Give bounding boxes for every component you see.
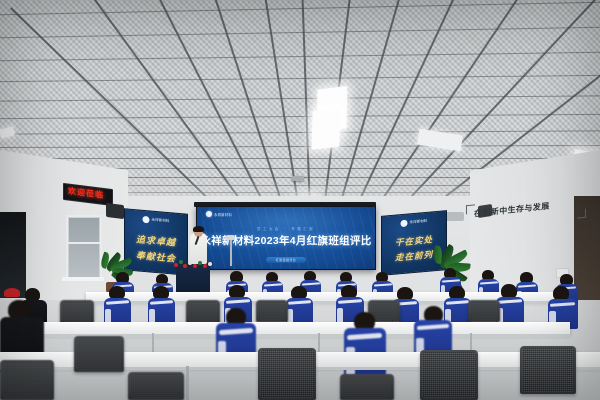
chair[interactable] bbox=[0, 360, 54, 400]
chair[interactable] bbox=[74, 336, 124, 372]
chair[interactable] bbox=[340, 374, 394, 400]
chair[interactable] bbox=[60, 300, 94, 324]
screen-subtitle: 员工大会 · 专题汇报 bbox=[197, 227, 375, 232]
chair[interactable] bbox=[186, 300, 220, 324]
table-row bbox=[30, 322, 570, 334]
banner-right-logo: 永祥新材料 bbox=[401, 218, 428, 227]
banner-left-logo-text: 永祥新材料 bbox=[152, 218, 170, 225]
company-logo-icon bbox=[206, 211, 212, 217]
conference-room-photo: 欢迎莅临 在创新中生存与发展 永祥新材料 员工大会 · 专题汇报 永祥新材料20… bbox=[0, 0, 600, 400]
ceiling-light-panel bbox=[311, 108, 340, 149]
screen-logo-text: 永祥新材料 bbox=[214, 212, 232, 217]
banner-left-line1: 追求卓越 bbox=[125, 231, 187, 249]
company-logo-icon bbox=[143, 216, 150, 224]
red-cap bbox=[4, 288, 20, 297]
flower bbox=[193, 264, 197, 268]
ceiling-row bbox=[0, 158, 600, 159]
screen-title: 永祥新材料2023年4月红旗班组评比 bbox=[197, 235, 375, 248]
flower-leaf bbox=[198, 261, 202, 265]
chair[interactable] bbox=[420, 350, 478, 400]
speaker-hair bbox=[193, 226, 204, 232]
mic-head bbox=[226, 235, 235, 240]
chair[interactable] bbox=[128, 372, 184, 400]
chair[interactable] bbox=[258, 348, 316, 400]
wall-speaker-icon bbox=[106, 203, 124, 219]
wall-slogan-text: 在创新中生存与发展 bbox=[474, 201, 550, 221]
flower-leaf bbox=[179, 260, 183, 264]
led-sign-text: 欢迎莅临 bbox=[68, 187, 104, 201]
left-doorway[interactable] bbox=[0, 212, 26, 298]
flower bbox=[188, 261, 192, 265]
chair[interactable] bbox=[468, 300, 500, 322]
mic-stand bbox=[230, 240, 232, 266]
banner-left-logo: 永祥新材料 bbox=[143, 216, 170, 225]
window-sill bbox=[62, 277, 104, 281]
flower-arrangement bbox=[172, 258, 214, 272]
chair[interactable] bbox=[256, 300, 288, 322]
attendee-uniform bbox=[286, 298, 313, 325]
screen-logo: 永祥新材料 bbox=[206, 211, 232, 217]
attendee-uniform bbox=[496, 297, 524, 325]
left-window bbox=[66, 215, 102, 281]
company-logo-icon bbox=[401, 220, 408, 228]
attendee-uniform bbox=[104, 298, 131, 325]
attendee-uniform bbox=[148, 298, 175, 325]
flower bbox=[174, 263, 178, 267]
banner-right: 永祥新材料 干在实处 走在前列 bbox=[381, 210, 447, 276]
flower bbox=[208, 262, 212, 266]
chair[interactable] bbox=[520, 346, 576, 394]
screen-badge: 红旗班组评比 bbox=[266, 257, 306, 263]
banner-right-logo-text: 永祥新材料 bbox=[410, 219, 428, 226]
table-leg bbox=[186, 366, 189, 400]
flower bbox=[203, 264, 207, 268]
bracket-bottom-right-icon bbox=[577, 209, 586, 219]
projection-screen: 永祥新材料 员工大会 · 专题汇报 永祥新材料2023年4月红旗班组评比 红旗班… bbox=[196, 206, 376, 270]
flower bbox=[183, 264, 187, 268]
